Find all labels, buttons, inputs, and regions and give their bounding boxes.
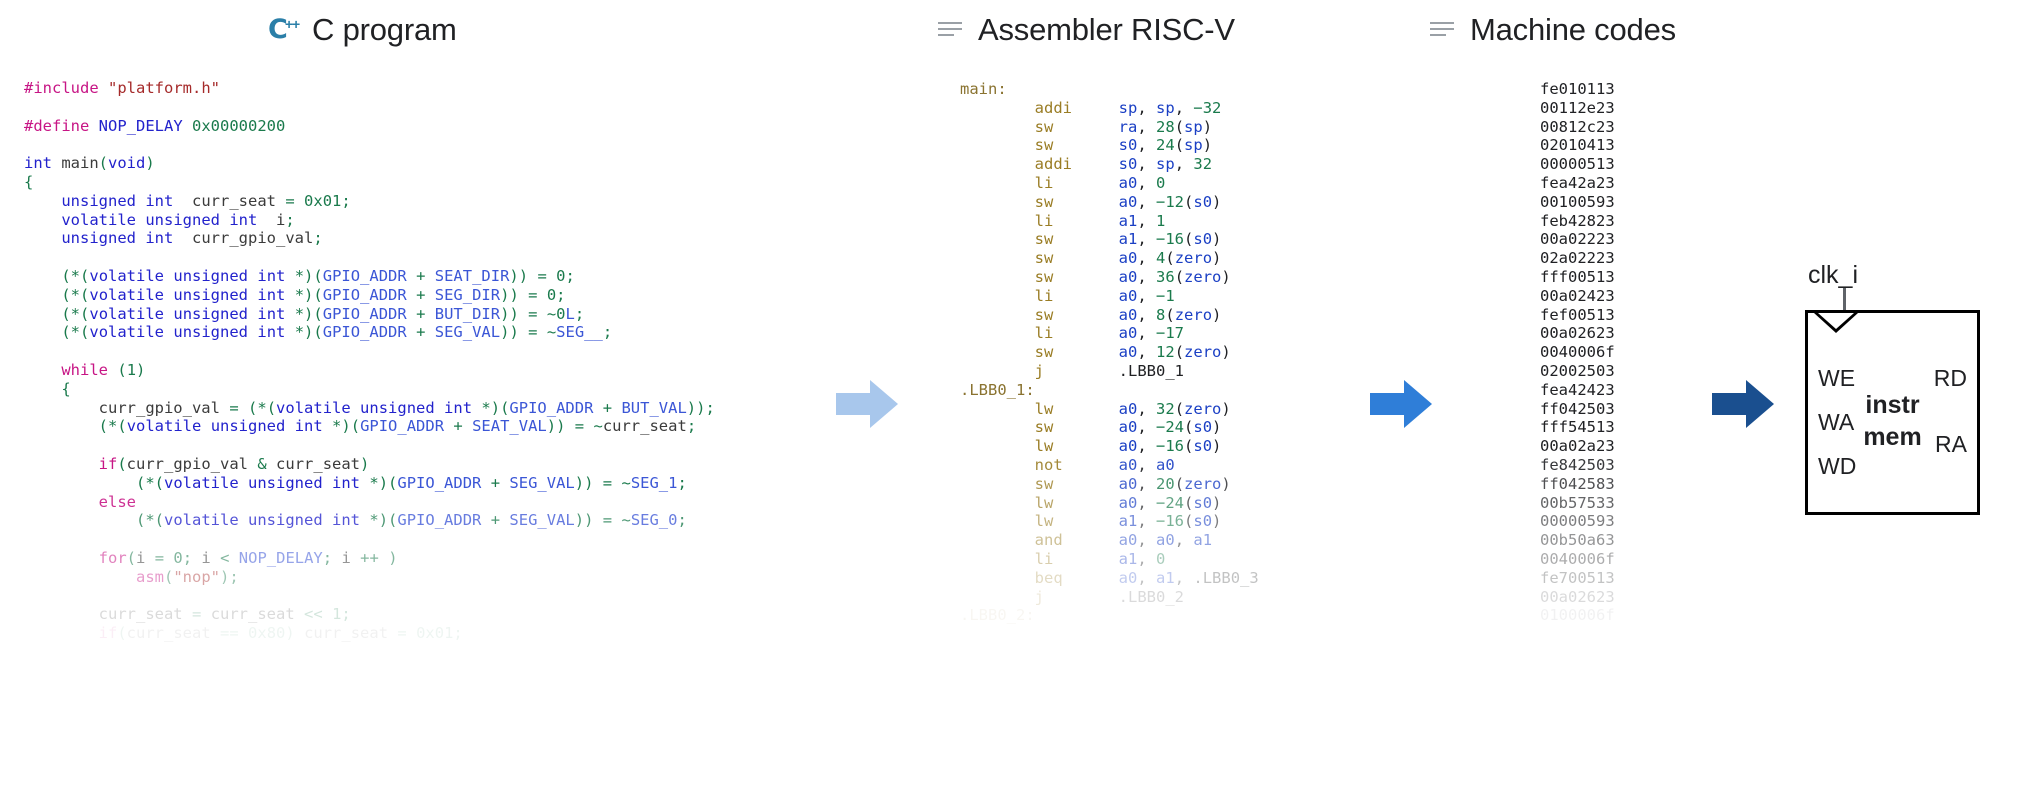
machine-code-value: fe842503 bbox=[1540, 456, 1720, 475]
asm-line: sw a1, −16(s0) bbox=[960, 230, 1380, 249]
instruction-memory-block: WE WA WD RD RA instr mem bbox=[1805, 310, 1980, 515]
code-line: curr_gpio_val = (*(volatile unsigned int… bbox=[24, 399, 784, 418]
asm-line: lw a0, 32(zero) bbox=[960, 400, 1380, 419]
code-line: while (1) bbox=[24, 361, 784, 380]
machine-code-value: 02010413 bbox=[1540, 136, 1720, 155]
asm-line: lw a1, −16(s0) bbox=[960, 512, 1380, 531]
code-line: asm("nop"); bbox=[24, 568, 784, 587]
machine-code-value: 00a02623 bbox=[1540, 324, 1720, 343]
machine-codes-heading: Machine codes bbox=[1430, 12, 1676, 48]
asm-line: sw a0, 20(zero) bbox=[960, 475, 1380, 494]
code-line: if(curr_seat == 0x80) curr_seat = 0x01; bbox=[24, 624, 784, 643]
text-lines-icon bbox=[1430, 19, 1456, 41]
diagram-canvas: C + + C program Assembler RISC-V Machine… bbox=[0, 0, 2028, 812]
instr-mem-label-line1: instr bbox=[1808, 391, 1977, 420]
machine-code-value: fea42a23 bbox=[1540, 174, 1720, 193]
machine-code-value: fe010113 bbox=[1540, 80, 1720, 99]
code-line: #define NOP_DELAY 0x00000200 bbox=[24, 117, 784, 136]
code-line bbox=[24, 530, 784, 549]
machine-code-value: 00a02423 bbox=[1540, 287, 1720, 306]
asm-line: j .LBB0_2 bbox=[960, 588, 1380, 607]
pin-wd: WD bbox=[1818, 453, 1856, 480]
code-line: (*(volatile unsigned int *)(GPIO_ADDR + … bbox=[24, 305, 784, 324]
machine-code-value: 00b57533 bbox=[1540, 494, 1720, 513]
asm-line: lw a0, −24(s0) bbox=[960, 494, 1380, 513]
asm-line: .LBB0_2: bbox=[960, 606, 1380, 625]
machine-code-value: 00000513 bbox=[1540, 155, 1720, 174]
asm-line: main: bbox=[960, 80, 1380, 99]
machine-code-value: 00a02623 bbox=[1540, 588, 1720, 607]
machine-code-value: 00b50a63 bbox=[1540, 531, 1720, 550]
c-source-code: #include "platform.h" #define NOP_DELAY … bbox=[24, 79, 784, 643]
asm-line: j .LBB0_1 bbox=[960, 362, 1380, 381]
machine-code-value: ff042503 bbox=[1540, 400, 1720, 419]
code-line: (*(volatile unsigned int *)(GPIO_ADDR + … bbox=[24, 286, 784, 305]
asm-line: sw a0, −12(s0) bbox=[960, 193, 1380, 212]
asm-line: li a0, −1 bbox=[960, 287, 1380, 306]
machine-code-value: 02a02223 bbox=[1540, 249, 1720, 268]
clock-triangle-inner bbox=[1818, 313, 1854, 329]
machine-code-value: 00a02a23 bbox=[1540, 437, 1720, 456]
code-line: (*(volatile unsigned int *)(GPIO_ADDR + … bbox=[24, 323, 784, 342]
code-line: else bbox=[24, 493, 784, 512]
code-line: unsigned int curr_gpio_val; bbox=[24, 229, 784, 248]
machine-code-value: fff54513 bbox=[1540, 418, 1720, 437]
c-program-title: C program bbox=[312, 12, 457, 48]
asm-line: lw a0, −16(s0) bbox=[960, 437, 1380, 456]
machine-code-value: 02002503 bbox=[1540, 362, 1720, 381]
machine-code-value: 00112e23 bbox=[1540, 99, 1720, 118]
assembler-heading: Assembler RISC-V bbox=[938, 12, 1235, 48]
machine-code-value: 00812c23 bbox=[1540, 118, 1720, 137]
code-line: (*(volatile unsigned int *)(GPIO_ADDR + … bbox=[24, 474, 784, 493]
machine-code-value: 0100006f bbox=[1540, 606, 1720, 625]
asm-line: li a0, 0 bbox=[960, 174, 1380, 193]
asm-line: not a0, a0 bbox=[960, 456, 1380, 475]
code-line: if(curr_gpio_val & curr_seat) bbox=[24, 455, 784, 474]
machine-code-value: 00a02223 bbox=[1540, 230, 1720, 249]
c-code-fade bbox=[0, 700, 800, 812]
machine-code-value: feb42823 bbox=[1540, 212, 1720, 231]
machine-code-value: fef00513 bbox=[1540, 306, 1720, 325]
asm-line: sw s0, 24(sp) bbox=[960, 136, 1380, 155]
machine-code-value: fe700513 bbox=[1540, 569, 1720, 588]
machine-code-value: 0040006f bbox=[1540, 550, 1720, 569]
instr-mem-label-line2: mem bbox=[1808, 423, 1977, 452]
asm-line: sw a0, 8(zero) bbox=[960, 306, 1380, 325]
assembler-source-code: main: addi sp, sp, −32 sw ra, 28(sp) sw … bbox=[960, 80, 1380, 625]
code-line: (*(volatile unsigned int *)(GPIO_ADDR + … bbox=[24, 511, 784, 530]
clk-wire bbox=[1843, 288, 1846, 312]
pin-we: WE bbox=[1818, 365, 1855, 392]
c-program-heading: C + + C program bbox=[268, 12, 457, 48]
machine-code-value: fff00513 bbox=[1540, 268, 1720, 287]
asm-line: addi sp, sp, −32 bbox=[960, 99, 1380, 118]
code-line: volatile unsigned int i; bbox=[24, 211, 784, 230]
code-line bbox=[24, 342, 784, 361]
code-line: for(i = 0; i < NOP_DELAY; i ++ ) bbox=[24, 549, 784, 568]
asm-line: sw a0, −24(s0) bbox=[960, 418, 1380, 437]
machine-code-value: ff042583 bbox=[1540, 475, 1720, 494]
code-line: { bbox=[24, 173, 784, 192]
machine-code-value: fea42423 bbox=[1540, 381, 1720, 400]
asm-code-fade bbox=[930, 700, 1400, 812]
asm-line: sw a0, 36(zero) bbox=[960, 268, 1380, 287]
asm-line: li a0, −17 bbox=[960, 324, 1380, 343]
code-line bbox=[24, 98, 784, 117]
asm-line: beq a0, a1, .LBB0_3 bbox=[960, 569, 1380, 588]
code-line bbox=[24, 135, 784, 154]
asm-line: li a1, 1 bbox=[960, 212, 1380, 231]
code-line: int main(void) bbox=[24, 154, 784, 173]
machine-codes-title: Machine codes bbox=[1470, 12, 1676, 48]
code-line: #include "platform.h" bbox=[24, 79, 784, 98]
asm-line: .LBB0_1: bbox=[960, 381, 1380, 400]
asm-line: addi s0, sp, 32 bbox=[960, 155, 1380, 174]
machine-codes-fade bbox=[1500, 700, 1760, 812]
c-plus-plus-logo-icon: C + + bbox=[268, 15, 298, 45]
clk-label: clk_i bbox=[1808, 261, 1858, 290]
pin-rd: RD bbox=[1934, 365, 1967, 392]
code-line: unsigned int curr_seat = 0x01; bbox=[24, 192, 784, 211]
machine-code-value: 00000593 bbox=[1540, 512, 1720, 531]
text-lines-icon bbox=[938, 19, 964, 41]
code-line: (*(volatile unsigned int *)(GPIO_ADDR + … bbox=[24, 417, 784, 436]
asm-line: sw a0, 4(zero) bbox=[960, 249, 1380, 268]
asm-line: sw a0, 12(zero) bbox=[960, 343, 1380, 362]
code-line: curr_seat = curr_seat << 1; bbox=[24, 605, 784, 624]
asm-line: li a1, 0 bbox=[960, 550, 1380, 569]
asm-line: and a0, a0, a1 bbox=[960, 531, 1380, 550]
code-line bbox=[24, 436, 784, 455]
code-line bbox=[24, 248, 784, 267]
code-line bbox=[24, 587, 784, 606]
code-line: { bbox=[24, 380, 784, 399]
code-line: (*(volatile unsigned int *)(GPIO_ADDR + … bbox=[24, 267, 784, 286]
asm-line: sw ra, 28(sp) bbox=[960, 118, 1380, 137]
machine-codes-list: fe01011300112e2300812c230201041300000513… bbox=[1540, 80, 1720, 625]
machine-code-value: 00100593 bbox=[1540, 193, 1720, 212]
machine-code-value: 0040006f bbox=[1540, 343, 1720, 362]
assembler-title: Assembler RISC-V bbox=[978, 12, 1235, 48]
